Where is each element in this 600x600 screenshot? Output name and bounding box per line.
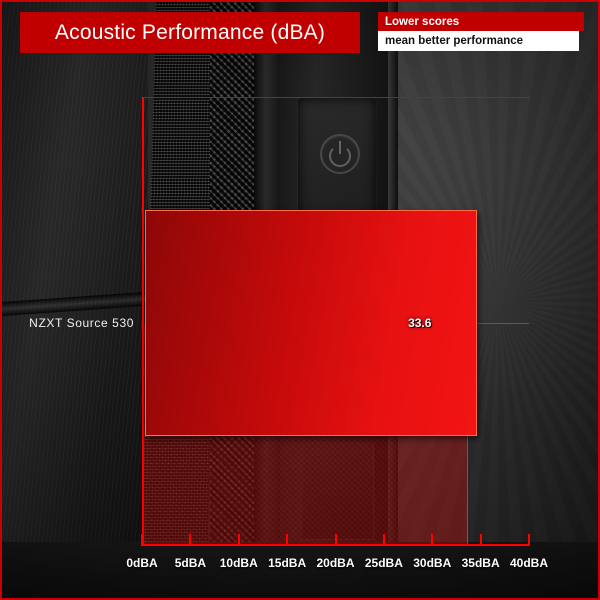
legend-line-mean-better-performance: mean better performance bbox=[378, 31, 579, 51]
x-tick-label-5: 25dBA bbox=[365, 556, 403, 570]
x-tick-0 bbox=[141, 534, 143, 546]
plot-area: NZXT Source 530 33.6 0dBA5dBA10dBA15dBA2… bbox=[2, 2, 600, 600]
x-tick-6 bbox=[431, 534, 433, 546]
legend: Lower scores mean better performance bbox=[378, 12, 584, 51]
x-tick-7 bbox=[480, 534, 482, 546]
category-label-nzxt-source-530: NZXT Source 530 bbox=[29, 316, 134, 330]
chart-title-banner: Acoustic Performance (dBA) bbox=[20, 12, 360, 53]
legend-line-lower-scores: Lower scores bbox=[378, 12, 584, 31]
x-tick-label-2: 10dBA bbox=[220, 556, 258, 570]
x-tick-2 bbox=[238, 534, 240, 546]
x-tick-label-3: 15dBA bbox=[268, 556, 306, 570]
x-tick-label-1: 5dBA bbox=[175, 556, 206, 570]
x-tick-label-0: 0dBA bbox=[126, 556, 157, 570]
x-tick-1 bbox=[189, 534, 191, 546]
value-label-nzxt-source-530: 33.6 bbox=[408, 316, 431, 330]
x-tick-8 bbox=[528, 534, 530, 546]
x-tick-label-6: 30dBA bbox=[413, 556, 451, 570]
x-tick-label-4: 20dBA bbox=[316, 556, 354, 570]
x-tick-5 bbox=[383, 534, 385, 546]
x-tick-4 bbox=[335, 534, 337, 546]
x-tick-label-8: 40dBA bbox=[510, 556, 548, 570]
acoustic-performance-chart: NZXT Source 530 33.6 0dBA5dBA10dBA15dBA2… bbox=[0, 0, 600, 600]
x-tick-3 bbox=[286, 534, 288, 546]
page-title: Acoustic Performance (dBA) bbox=[55, 21, 325, 45]
plot-top-rule bbox=[142, 97, 530, 98]
x-tick-label-7: 35dBA bbox=[462, 556, 500, 570]
